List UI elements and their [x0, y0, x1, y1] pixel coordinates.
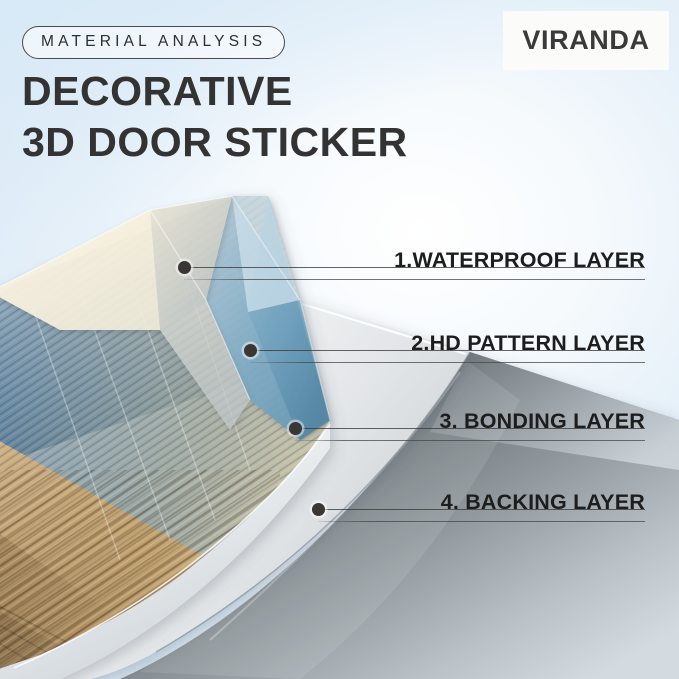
- callout-label: 3. BONDING LAYER: [440, 409, 646, 434]
- callout-underline: [250, 362, 645, 363]
- callout-2: 2.HD PATTERN LAYER: [0, 317, 679, 363]
- callout-1: 1.WATERPROOF LAYER: [0, 234, 679, 280]
- brand-logo-box: VIRANDA: [503, 11, 669, 70]
- callout-dot: [244, 344, 257, 357]
- callout-3: 3. BONDING LAYER: [0, 395, 679, 441]
- callout-dot: [289, 422, 302, 435]
- title-line-2: 3D DOOR STICKER: [22, 117, 408, 168]
- callout-leader-line: [184, 267, 645, 268]
- callout-label: 1.WATERPROOF LAYER: [394, 248, 645, 273]
- callout-leader-line: [318, 509, 645, 510]
- callout-dot: [312, 503, 325, 516]
- callout-underline: [318, 521, 645, 522]
- callout-underline: [295, 440, 645, 441]
- callout-underline: [184, 279, 645, 280]
- poster-canvas: MATERIAL ANALYSIS DECORATIVE 3D DOOR STI…: [0, 0, 679, 679]
- callout-label: 2.HD PATTERN LAYER: [411, 331, 645, 356]
- callout-leader-line: [250, 350, 645, 351]
- eyebrow-badge: MATERIAL ANALYSIS: [22, 26, 285, 59]
- callout-dot: [178, 261, 191, 274]
- page-title: DECORATIVE 3D DOOR STICKER: [22, 66, 408, 168]
- callout-label: 4. BACKING LAYER: [441, 490, 645, 515]
- callout-leader-line: [295, 428, 645, 429]
- callout-4: 4. BACKING LAYER: [0, 476, 679, 522]
- brand-name: VIRANDA: [522, 25, 649, 56]
- title-line-1: DECORATIVE: [22, 68, 293, 114]
